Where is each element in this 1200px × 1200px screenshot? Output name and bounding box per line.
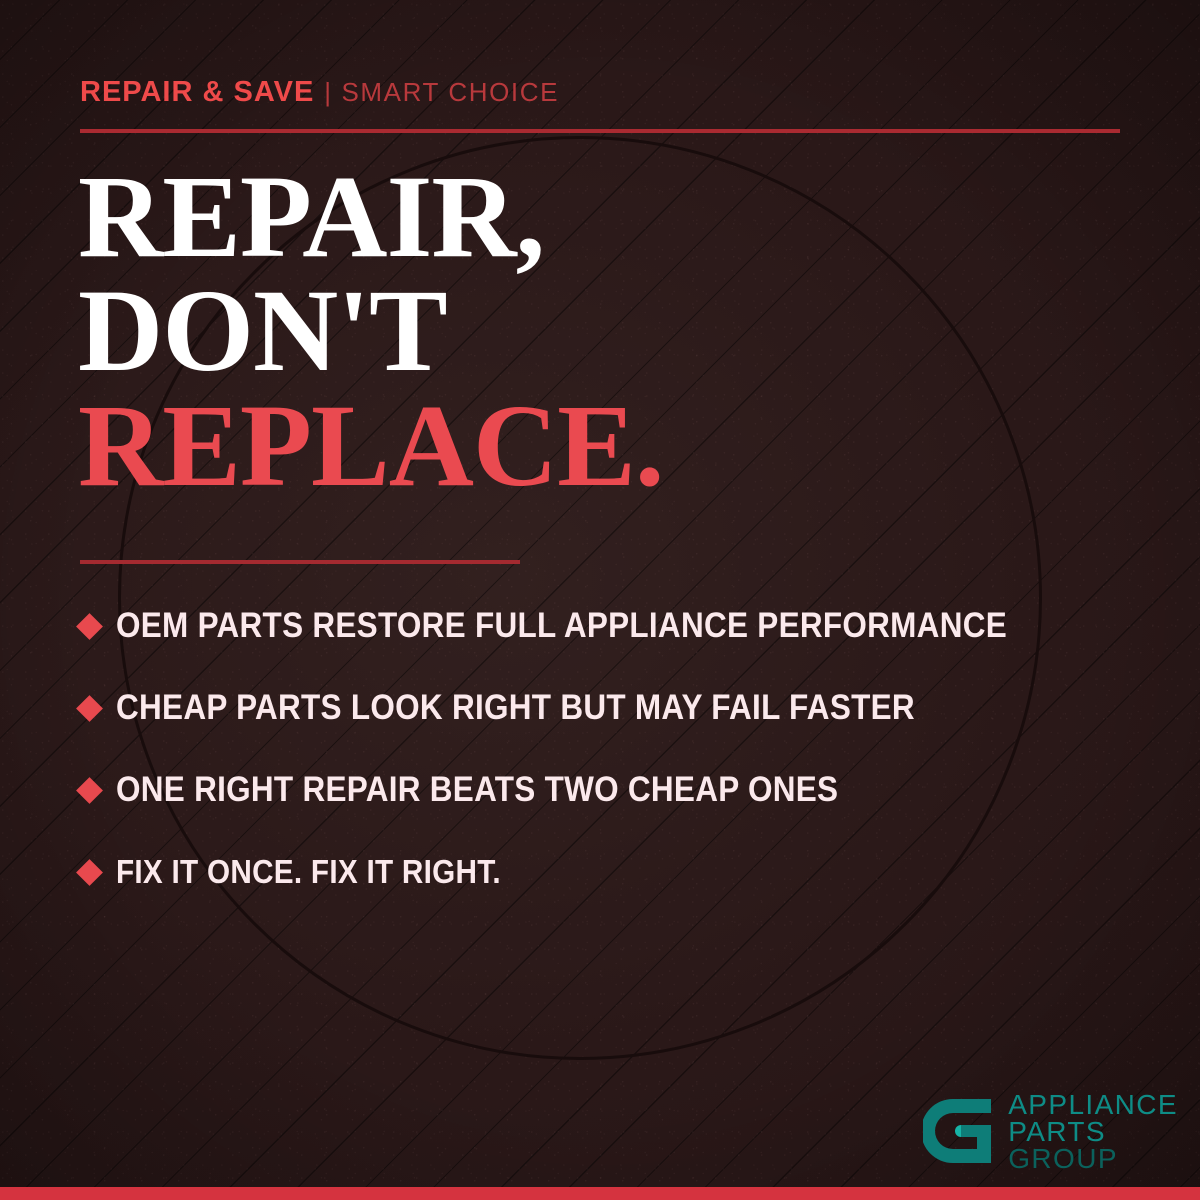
list-item: OEM PARTS RESTORE FULL APPLIANCE PERFORM… <box>80 585 1140 667</box>
page-title: REPAIR, DON'T REPLACE. <box>78 160 663 503</box>
eyebrow-main-label: REPAIR & SAVE <box>80 76 314 109</box>
headline-line-2: DON'T <box>78 274 663 388</box>
logo-line-group: GROUP <box>1008 1145 1178 1172</box>
list-item: ONE RIGHT REPAIR BEATS TWO CHEAP ONES <box>80 749 1140 831</box>
list-item: FIX IT ONCE. FIX IT RIGHT. <box>80 831 1140 913</box>
headline-line-1: REPAIR, <box>78 160 663 274</box>
headline-line-3: REPLACE. <box>78 389 663 503</box>
diamond-bullet-icon <box>76 695 103 722</box>
list-item-label: OEM PARTS RESTORE FULL APPLIANCE PERFORM… <box>116 606 1007 646</box>
eyebrow: REPAIR & SAVE | SMART CHOICE <box>80 76 559 109</box>
logo-g-mark-icon <box>923 1095 995 1167</box>
promo-poster: REPAIR & SAVE | SMART CHOICE REPAIR, DON… <box>0 0 1200 1200</box>
eyebrow-sub-label: | SMART CHOICE <box>324 77 559 108</box>
list-item-label: CHEAP PARTS LOOK RIGHT BUT MAY FAIL FAST… <box>116 688 915 728</box>
bottom-accent-bar <box>0 1187 1200 1200</box>
poster-content: REPAIR & SAVE | SMART CHOICE REPAIR, DON… <box>0 0 1200 1200</box>
diamond-bullet-icon <box>76 859 103 886</box>
logo-line-parts: PARTS <box>1008 1118 1178 1145</box>
list-item-label: FIX IT ONCE. FIX IT RIGHT. <box>116 853 501 891</box>
list-item: CHEAP PARTS LOOK RIGHT BUT MAY FAIL FAST… <box>80 667 1140 749</box>
diamond-bullet-icon <box>76 613 103 640</box>
logo-line-appliance: APPLIANCE <box>1008 1091 1178 1118</box>
diamond-bullet-icon <box>76 777 103 804</box>
header-divider-rule <box>80 129 1120 133</box>
benefits-list: OEM PARTS RESTORE FULL APPLIANCE PERFORM… <box>80 585 1140 913</box>
bullets-divider-rule <box>80 560 520 564</box>
brand-logo: APPLIANCE PARTS GROUP <box>923 1091 1178 1172</box>
list-item-label: ONE RIGHT REPAIR BEATS TWO CHEAP ONES <box>116 770 838 810</box>
logo-wordmark: APPLIANCE PARTS GROUP <box>1008 1091 1178 1172</box>
